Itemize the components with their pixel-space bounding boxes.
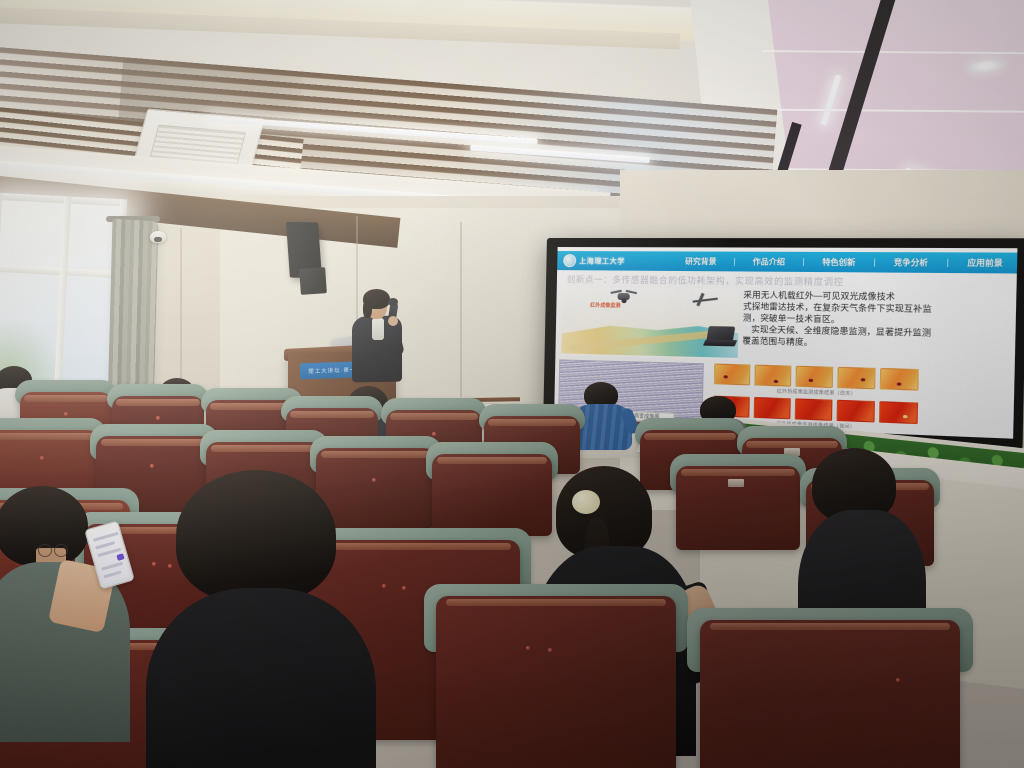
seat[interactable] xyxy=(436,596,676,768)
wall-speaker-bracket xyxy=(299,267,327,295)
security-camera-icon xyxy=(150,231,166,243)
thermal-tile xyxy=(880,368,919,391)
slide-illustration: 红外成像监测 xyxy=(561,287,739,360)
seat[interactable] xyxy=(676,466,800,550)
logo-wordmark: 上海理工大学 xyxy=(579,256,625,266)
thermal-tile xyxy=(837,367,875,389)
thermal-tile xyxy=(795,366,833,388)
eyeglasses-icon xyxy=(38,544,68,556)
nav-separator: | xyxy=(946,258,949,268)
drone-label: 红外成像监测 xyxy=(590,302,620,310)
thermal-tile xyxy=(754,365,791,387)
nav-separator: | xyxy=(873,257,876,267)
slide-nav-item-0[interactable]: 研究背景 xyxy=(685,256,717,268)
aircraft-icon xyxy=(686,292,722,309)
seat[interactable] xyxy=(316,448,436,528)
phone-accent-chip xyxy=(116,553,124,561)
slide-nav-item-2[interactable]: 特色创新 xyxy=(822,256,856,268)
nav-separator: | xyxy=(802,257,804,267)
logo-emblem-icon xyxy=(563,254,576,267)
drone-icon xyxy=(610,290,637,303)
slide-nav-item-3[interactable]: 竞争分析 xyxy=(894,256,929,268)
hair-scrunchie xyxy=(572,490,600,514)
seat-number-plate xyxy=(728,479,744,487)
wall-seam xyxy=(460,222,462,397)
thermal-tile xyxy=(879,401,918,424)
thermal-tile xyxy=(795,398,833,420)
university-logo: 上海理工大学 xyxy=(557,254,677,268)
wall-seam xyxy=(180,228,182,378)
thermal-tile xyxy=(754,397,791,419)
slide-nav-item-1[interactable]: 作品介绍 xyxy=(753,256,786,268)
slide-nav-bar: 上海理工大学 研究背景 | 作品介绍 | 特色创新 | 竞争分析 | 应用前景 xyxy=(557,251,1017,274)
thermal-tile xyxy=(836,400,874,423)
window-curtain xyxy=(108,219,159,412)
laptop-icon xyxy=(704,326,736,350)
thermal-tile xyxy=(714,364,751,386)
seat[interactable] xyxy=(432,454,552,536)
seat[interactable] xyxy=(700,620,960,768)
slide-nav-item-4[interactable]: 应用前景 xyxy=(967,257,1003,269)
lecture-hall-photo: 上海理工大学 研究背景 | 作品介绍 | 特色创新 | 竞争分析 | 应用前景 … xyxy=(0,0,1024,768)
nav-separator: | xyxy=(733,257,735,266)
slide-body-text: 采用无人机载红外—可见双光成像技术 式探地雷达技术，在复杂天气条件下实现互补监 … xyxy=(742,289,923,350)
